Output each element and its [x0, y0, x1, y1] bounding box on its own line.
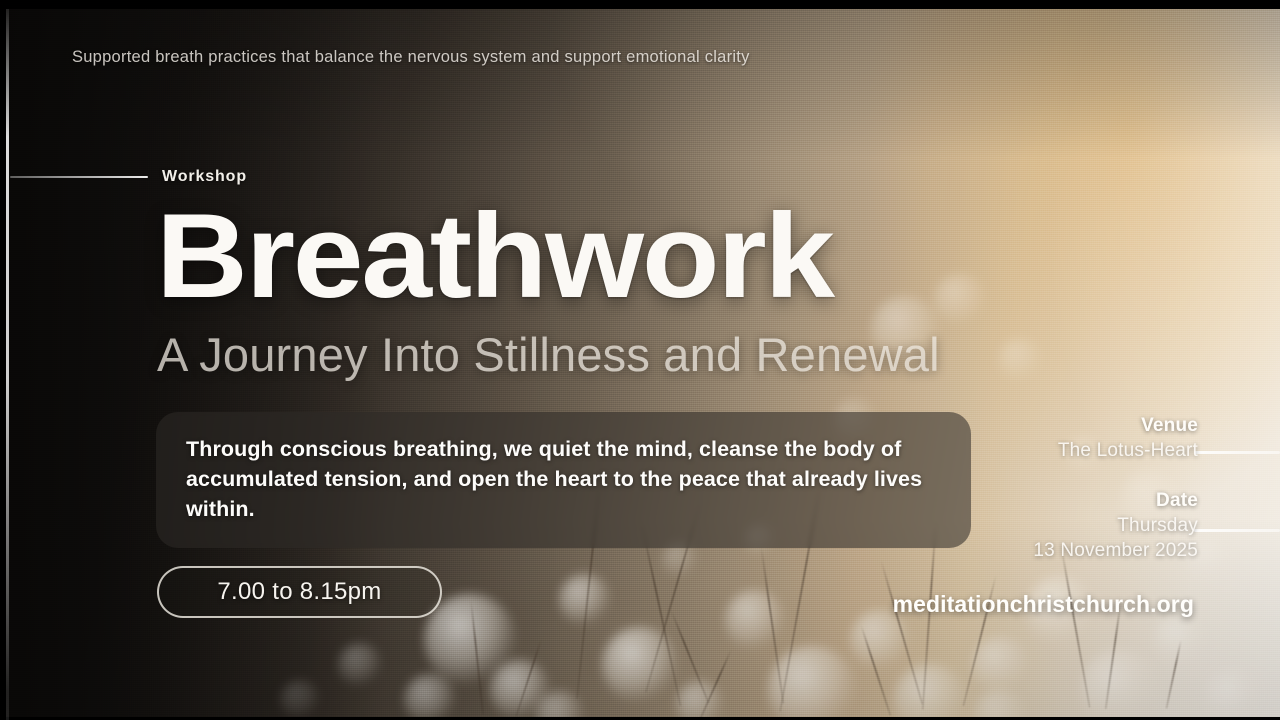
venue-block: Venue The Lotus-Heart	[898, 415, 1198, 462]
venue-label: Venue	[898, 415, 1198, 437]
eyebrow-rule	[10, 176, 148, 178]
subtitle: A Journey Into Stillness and Renewal	[157, 330, 940, 380]
date-block: Date Thursday 13 November 2025	[898, 490, 1198, 562]
description-panel: Through conscious breathing, we quiet th…	[156, 412, 971, 548]
date-day: Thursday	[898, 515, 1198, 537]
venue-rule	[1194, 451, 1280, 454]
venue-value: The Lotus-Heart	[898, 440, 1198, 462]
page-title: Breathwork	[156, 196, 833, 316]
date-label: Date	[898, 490, 1198, 512]
eyebrow-label: Workshop	[162, 168, 247, 186]
eyebrow-row: Workshop	[10, 168, 247, 186]
event-poster: Supported breath practices that balance …	[0, 0, 1280, 720]
description-text: Through conscious breathing, we quiet th…	[186, 434, 941, 524]
date-value: 13 November 2025	[898, 540, 1198, 562]
left-edge-accent-line	[6, 9, 9, 720]
event-info: Venue The Lotus-Heart Date Thursday 13 N…	[898, 415, 1198, 562]
website-link[interactable]: meditationchristchurch.org	[893, 591, 1194, 618]
tagline: Supported breath practices that balance …	[72, 48, 750, 67]
poster-content: Supported breath practices that balance …	[0, 0, 1280, 720]
time-badge-label: 7.00 to 8.15pm	[217, 578, 381, 606]
date-rule	[1194, 529, 1280, 532]
letterbox-top-bar	[0, 0, 1280, 9]
time-badge: 7.00 to 8.15pm	[157, 566, 442, 618]
